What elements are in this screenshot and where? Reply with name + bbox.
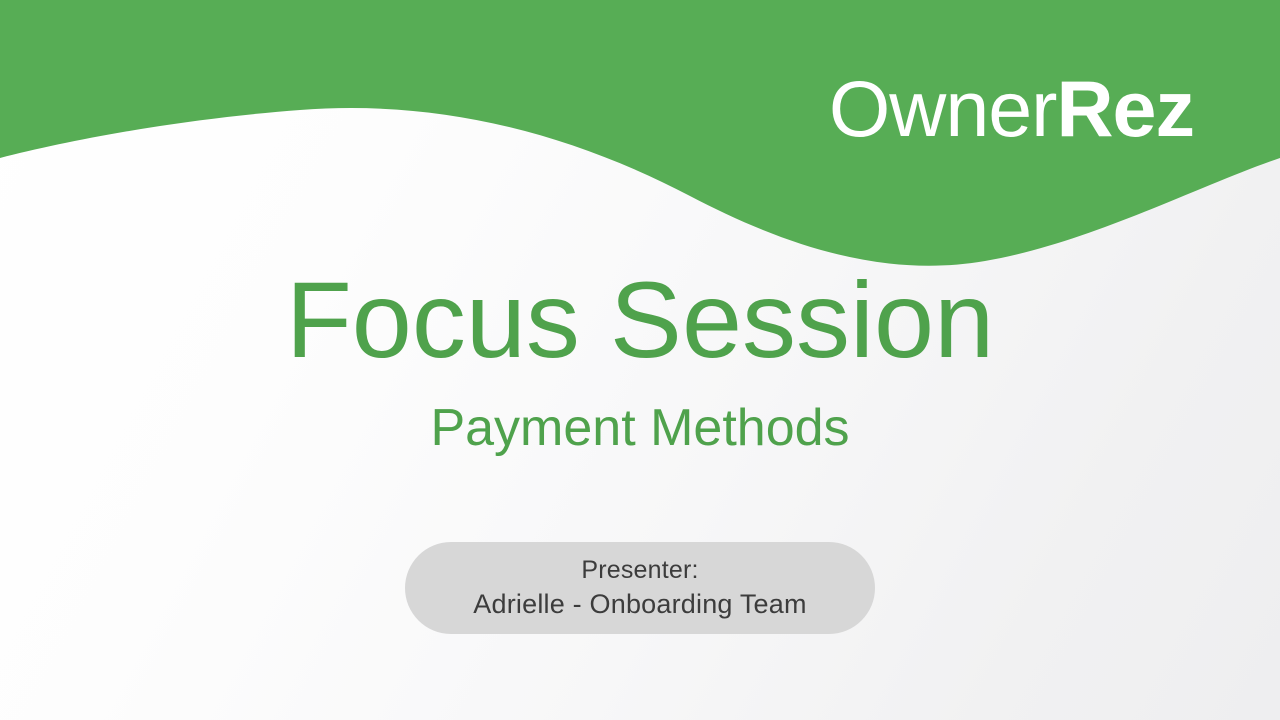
slide-subtitle: Payment Methods (0, 400, 1280, 457)
title-slide: OwnerRez Focus Session Payment Methods P… (0, 0, 1280, 720)
presenter-name: Adrielle - Onboarding Team (473, 587, 806, 622)
ownerrez-logo: OwnerRez (829, 69, 1194, 148)
logo-text-rez: Rez (1057, 64, 1195, 153)
logo-text-owner: Owner (829, 64, 1057, 153)
presenter-badge: Presenter: Adrielle - Onboarding Team (405, 542, 875, 634)
slide-title: Focus Session (0, 262, 1280, 379)
presenter-label: Presenter: (581, 554, 698, 587)
